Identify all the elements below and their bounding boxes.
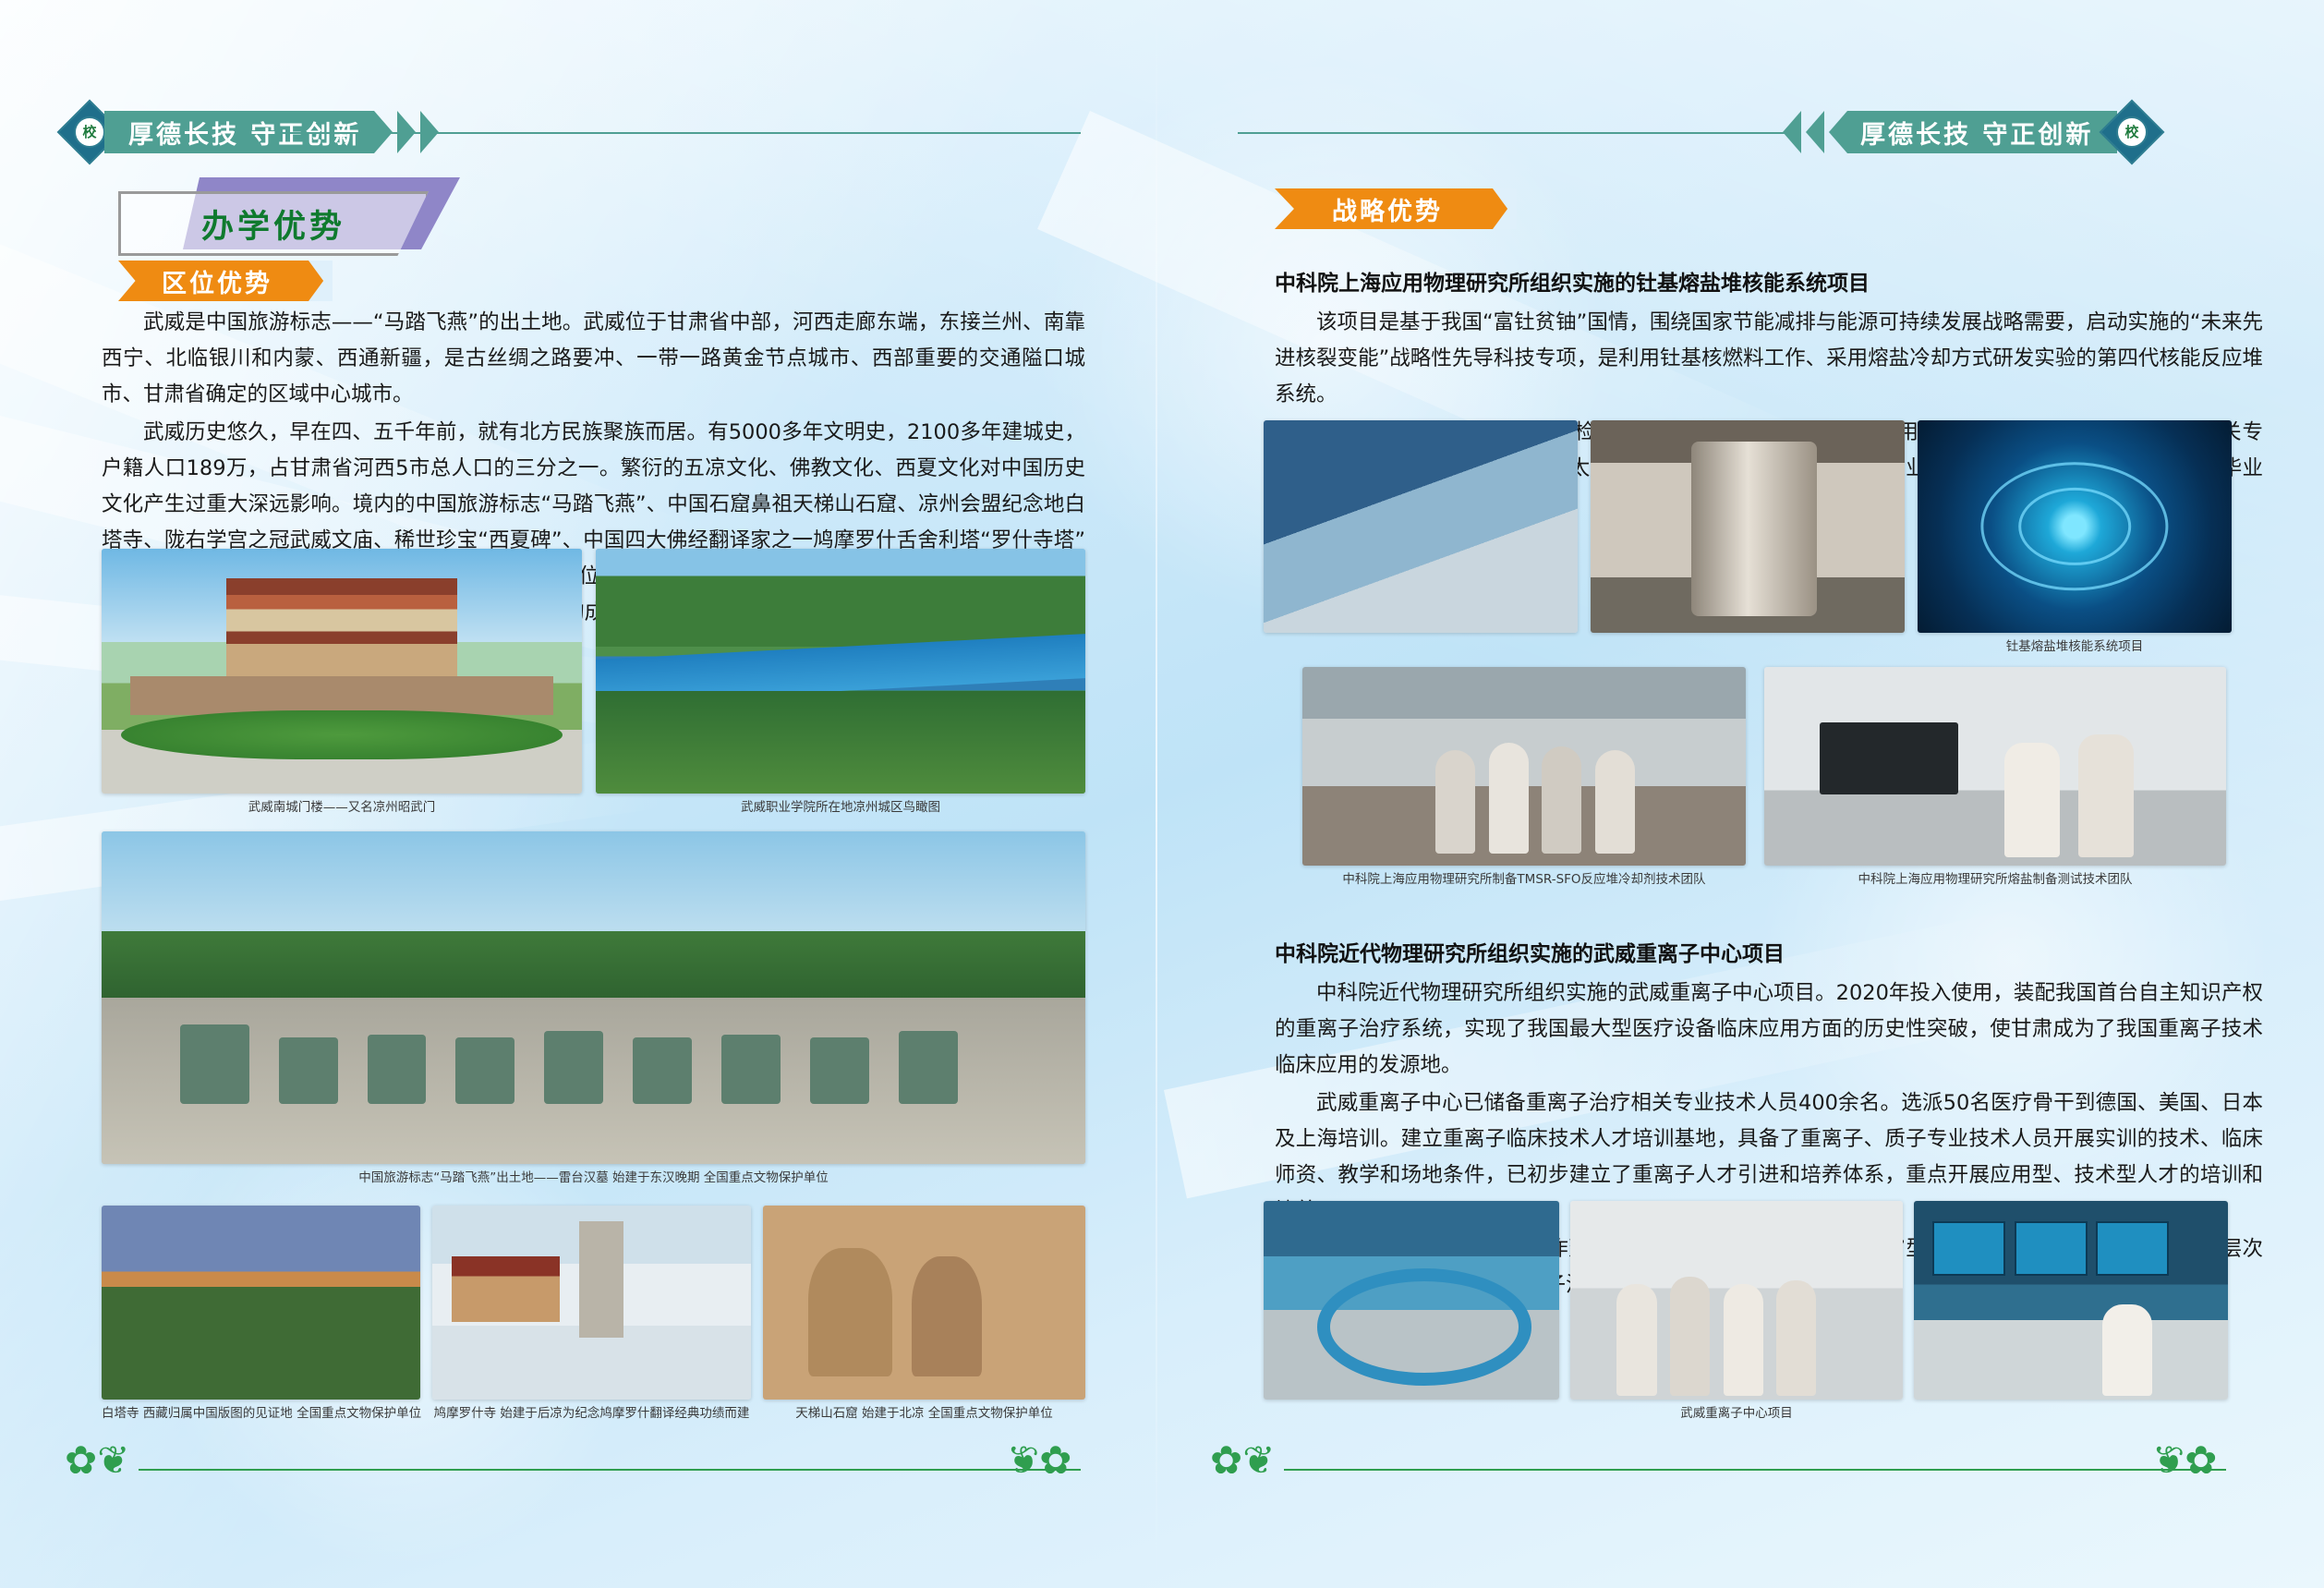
photo-reactor-core (1918, 420, 2232, 633)
motto-text-right: 厚德长技 守正创新 (1860, 115, 2093, 151)
photo-bronze-horse-plaza (102, 831, 1085, 1164)
photo-detail-buddha-statue (808, 1248, 892, 1376)
figure-caption: 武威职业学院所在地凉州城区鸟瞰图 (596, 794, 1085, 817)
photo-detail-bronze-horse (899, 1031, 958, 1104)
photo-wuwei-south-gate (102, 549, 582, 794)
vine-ornament-icon: ✿❦ (2152, 1441, 2217, 1480)
paragraph: 该项目是基于我国“富钍贫铀”国情，围绕国家节能减排与能源可持续发展战略需要，启动… (1275, 305, 2263, 413)
photo-detail-trainee (1670, 1277, 1710, 1396)
plate-frame: 办学优势 (118, 191, 429, 256)
photo-control-room (1914, 1201, 2228, 1400)
page-title: 办学优势 (201, 200, 345, 248)
page-gutter (1156, 0, 1157, 1588)
vine-ornament-icon: ✿❦ (65, 1441, 129, 1480)
vine-ornament-icon: ✿❦ (1007, 1441, 1071, 1480)
photo-detail-screen (1932, 1221, 2005, 1277)
header-rule-right (1238, 132, 1792, 134)
photo-detail-bronze-horse (721, 1035, 781, 1105)
photo-detail-researcher (1595, 750, 1635, 854)
vine-ornament-icon: ✿❦ (1210, 1441, 1275, 1480)
brochure-spread: 校 厚德长技 守正创新 厚德长技 守正创新 校 办学优势 (0, 0, 2324, 1588)
figure-ion-training: 武威重离子中心项目 (1570, 1201, 1903, 1400)
photo-detail-pagoda (579, 1221, 623, 1338)
photo-baita-temple (102, 1206, 420, 1400)
photo-detail-city-wall (130, 676, 553, 715)
photo-tianti-grottoes (763, 1206, 1085, 1400)
photo-detail-screen (2096, 1221, 2169, 1277)
photo-detail-temple-hall (452, 1256, 560, 1322)
figure-caption: 天梯山石窟 始建于北凉 全国重点文物保护单位 (763, 1400, 1085, 1423)
emblem-glyph: 校 (2116, 116, 2148, 148)
figure-saltprep-team: 中科院上海应用物理研究所熔盐制备测试技术团队 (1764, 667, 2226, 866)
photo-ion-training (1570, 1201, 1903, 1400)
photo-msr-vessel (1591, 420, 1905, 633)
section-heading: 中科院近代物理研究所组织实施的武威重离子中心项目 (1275, 939, 2263, 970)
chevron-left-icon (1806, 111, 1824, 153)
photo-detail-lawn (121, 710, 563, 759)
figure-tianti-grottoes: 天梯山石窟 始建于北凉 全国重点文物保护单位 (763, 1206, 1085, 1400)
photo-coolant-team (1302, 667, 1746, 866)
section-heading: 中科院上海应用物理研究所组织实施的钍基熔盐堆核能系统项目 (1275, 268, 2263, 299)
photo-detail-operator (2102, 1304, 2152, 1396)
photo-detail-monitor (1820, 722, 1958, 794)
figure-luoshi-pagoda: 鸠摩罗什寺 始建于后凉为纪念鸠摩罗什翻译经典功绩而建 (432, 1206, 751, 1400)
figure-bronze-horse-plaza: 中国旅游标志“马踏飞燕”出土地——雷台汉墓 始建于东汉晚期 全国重点文物保护单位 (102, 831, 1085, 1164)
photo-detail-lower-green (596, 691, 1085, 794)
photo-detail-bronze-horse (544, 1031, 603, 1104)
photo-detail-bronze-horse (455, 1037, 514, 1104)
photo-luoshi-pagoda (432, 1206, 751, 1400)
photo-detail-pressure-vessel (1691, 442, 1817, 616)
photo-campus-aerial (596, 549, 1085, 794)
photo-detail-screen (2015, 1221, 2088, 1277)
figure-campus-aerial: 武威职业学院所在地凉州城区鸟瞰图 (596, 549, 1085, 794)
badge-label: 区位优势 (162, 263, 289, 299)
photo-ion-accelerator (1264, 1201, 1559, 1400)
photo-detail-core-ring (2018, 488, 2131, 565)
photo-detail-trainee (1724, 1284, 1763, 1395)
photo-detail-researcher (1435, 750, 1475, 854)
photo-detail-bronze-horse (279, 1037, 338, 1104)
photo-detail-bronze-horse (368, 1035, 427, 1105)
photo-detail-researcher (1542, 746, 1581, 854)
chevron-group-left (1783, 111, 1847, 153)
paragraph: 武威是中国旅游标志——“马踏飞燕”的出土地。武威位于甘肃省中部，河西走廊东端，东… (102, 305, 1085, 413)
photo-detail-trainee (1616, 1284, 1656, 1395)
photo-detail-gate-tower (226, 578, 457, 681)
figure-caption: 钍基熔盐堆核能系统项目 (1918, 633, 2232, 656)
figure-caption: 鸠摩罗什寺 始建于后凉为纪念鸠摩罗什翻译经典功绩而建 (432, 1400, 751, 1423)
photo-detail-bronze-horse (633, 1037, 692, 1104)
figure-caption: 白塔寺 西藏归属中国版图的见证地 全国重点文物保护单位 (102, 1400, 420, 1423)
photo-detail-bronze-horse (810, 1037, 869, 1104)
figure-caption: 武威重离子中心项目 (1570, 1400, 1903, 1423)
photo-detail-researcher (1489, 743, 1529, 854)
chevron-left-icon (1829, 111, 1847, 153)
footer-rule-left (139, 1469, 1081, 1471)
photo-detail-researcher (2004, 743, 2060, 858)
badge-regional-advantage: 区位优势 (118, 261, 333, 301)
section-title-plate: 办学优势 (118, 185, 488, 251)
photo-detail-upper-green (596, 549, 1085, 647)
photo-detail-buddha-statue (912, 1256, 983, 1376)
figure-caption: 中科院上海应用物理研究所熔盐制备测试技术团队 (1764, 866, 2226, 889)
figure-ion-accelerator (1264, 1201, 1559, 1400)
photo-detail-bronze-horse (180, 1024, 249, 1104)
photo-detail-trainee (1776, 1280, 1816, 1396)
figure-caption: 中国旅游标志“马踏飞燕”出土地——雷台汉墓 始建于东汉晚期 全国重点文物保护单位 (102, 1164, 1085, 1187)
figure-reactor-core: 钍基熔盐堆核能系统项目 (1918, 420, 2232, 633)
running-head-right: 厚德长技 守正创新 校 (1783, 111, 2155, 153)
figure-coolant-team: 中科院上海应用物理研究所制备TMSR-SFO反应堆冷却剂技术团队 (1302, 667, 1746, 866)
emblem-glyph: 校 (74, 116, 105, 148)
footer-rule-right (1284, 1469, 2226, 1471)
photo-detail-researcher (2078, 734, 2134, 857)
badge-strategic-advantage: 战略优势 (1275, 188, 1517, 229)
figure-baita-temple: 白塔寺 西藏归属中国版图的见证地 全国重点文物保护单位 (102, 1206, 420, 1400)
figure-caption: 中科院上海应用物理研究所制备TMSR-SFO反应堆冷却剂技术团队 (1302, 866, 1746, 889)
photo-saltprep-team (1764, 667, 2226, 866)
school-emblem-icon: 校 (2100, 100, 2165, 165)
figure-msr-vessel (1591, 420, 1905, 633)
figure-wuwei-south-gate: 武威南城门楼——又名凉州昭武门 (102, 549, 582, 794)
figure-msr-facility (1264, 420, 1578, 633)
photo-detail-treeline (102, 931, 1085, 998)
motto-bar-right: 厚德长技 守正创新 (1847, 111, 2117, 153)
figure-control-room (1914, 1201, 2228, 1400)
paragraph: 中科院近代物理研究所组织实施的武威重离子中心项目。2020年投入使用，装配我国首… (1275, 976, 2263, 1084)
badge-label: 战略优势 (1332, 191, 1459, 227)
photo-msr-facility (1264, 420, 1578, 633)
photo-detail-accelerator-ring (1317, 1268, 1532, 1386)
header-rule-left (277, 132, 1081, 134)
figure-caption: 武威南城门楼——又名凉州昭武门 (102, 794, 582, 817)
